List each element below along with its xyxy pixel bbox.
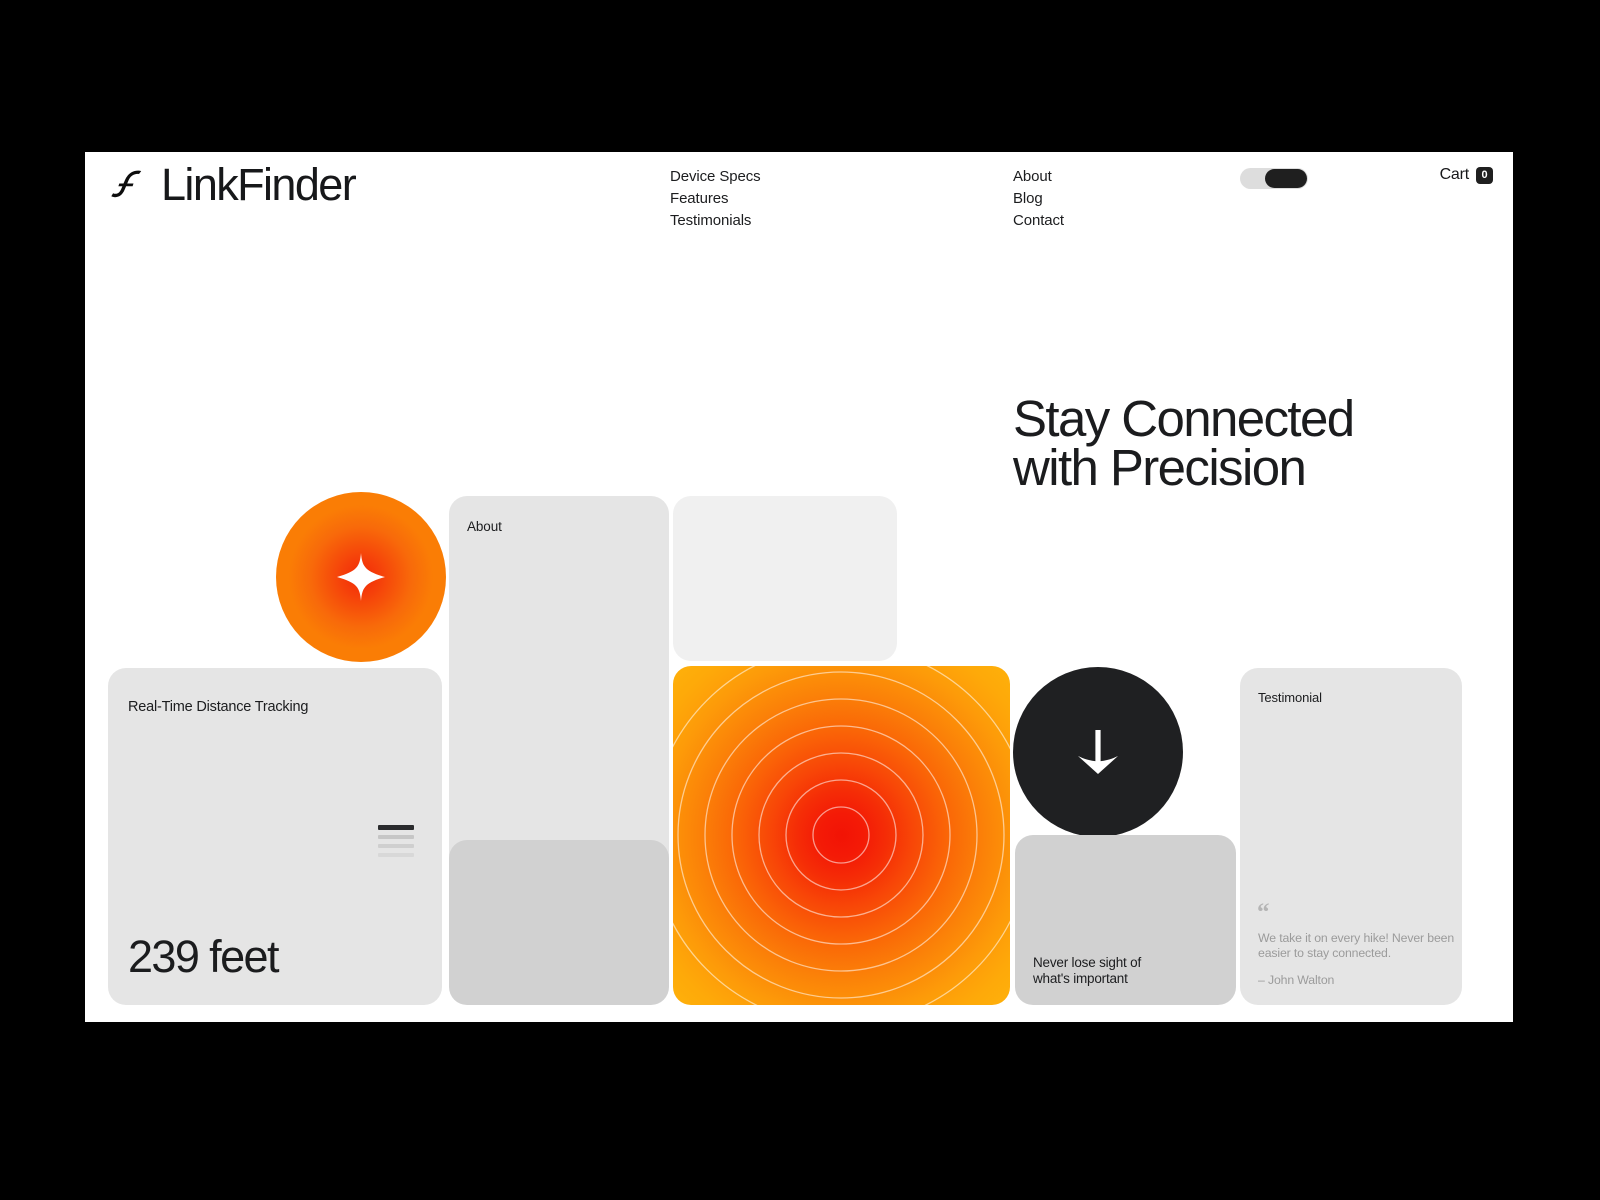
cart-count-badge: 0 xyxy=(1476,167,1493,184)
placeholder-card-light xyxy=(673,496,897,661)
arrow-down-icon xyxy=(1068,722,1128,782)
site-header: LinkFinder Device Specs Features Testimo… xyxy=(85,152,1513,262)
nav-link-contact[interactable]: Contact xyxy=(1013,211,1064,230)
page-canvas: LinkFinder Device Specs Features Testimo… xyxy=(85,152,1513,1022)
cart-button[interactable]: Cart 0 xyxy=(1440,166,1493,184)
nav-link-testimonials[interactable]: Testimonials xyxy=(670,211,761,230)
placeholder-card-gray xyxy=(449,840,669,1005)
theme-toggle-switch[interactable] xyxy=(1240,168,1308,189)
signal-bars-icon xyxy=(378,825,414,859)
hero-line-one: Stay Connected xyxy=(1013,394,1493,443)
nav-link-about[interactable]: About xyxy=(1013,167,1064,186)
hero-line-two: with Precision xyxy=(1013,443,1493,492)
nav-link-blog[interactable]: Blog xyxy=(1013,189,1064,208)
four-point-star-icon xyxy=(334,550,388,604)
nav-link-device-specs[interactable]: Device Specs xyxy=(670,167,761,186)
hero-heading: Stay Connected with Precision xyxy=(1013,394,1493,492)
pulse-rings-tile xyxy=(673,666,1010,1005)
testimonial-card: Testimonial “ We take it on every hike! … xyxy=(1240,668,1462,1005)
brand-logo[interactable]: LinkFinder xyxy=(107,162,355,207)
never-lose-sight-card: Never lose sight of what's important xyxy=(1015,835,1236,1005)
toggle-knob xyxy=(1265,169,1307,188)
testimonial-quote: We take it on every hike! Never been eas… xyxy=(1258,931,1454,960)
sight-card-text: Never lose sight of what's important xyxy=(1033,955,1141,986)
pulse-circle-graphic[interactable] xyxy=(276,492,446,662)
distance-tracking-card: Real-Time Distance Tracking 239 feet xyxy=(108,668,442,1005)
testimonial-author: – John Walton xyxy=(1258,973,1334,987)
distance-value: 239 feet xyxy=(128,934,278,979)
flowing-f-mark-icon xyxy=(107,163,151,207)
sight-line-two: what's important xyxy=(1033,971,1128,986)
nav-link-features[interactable]: Features xyxy=(670,189,761,208)
scroll-down-button[interactable] xyxy=(1013,667,1183,837)
distance-card-title: Real-Time Distance Tracking xyxy=(128,699,308,715)
brand-name: LinkFinder xyxy=(161,162,355,207)
concentric-rings-icon xyxy=(673,666,1010,1005)
cart-label: Cart xyxy=(1440,166,1469,184)
nav-column-primary: Device Specs Features Testimonials xyxy=(670,167,761,230)
testimonial-card-title: Testimonial xyxy=(1258,690,1322,705)
about-card-title: About xyxy=(467,519,502,534)
quote-mark-icon: “ xyxy=(1257,907,1270,919)
sight-line-one: Never lose sight of xyxy=(1033,955,1141,970)
nav-column-secondary: About Blog Contact xyxy=(1013,167,1064,230)
